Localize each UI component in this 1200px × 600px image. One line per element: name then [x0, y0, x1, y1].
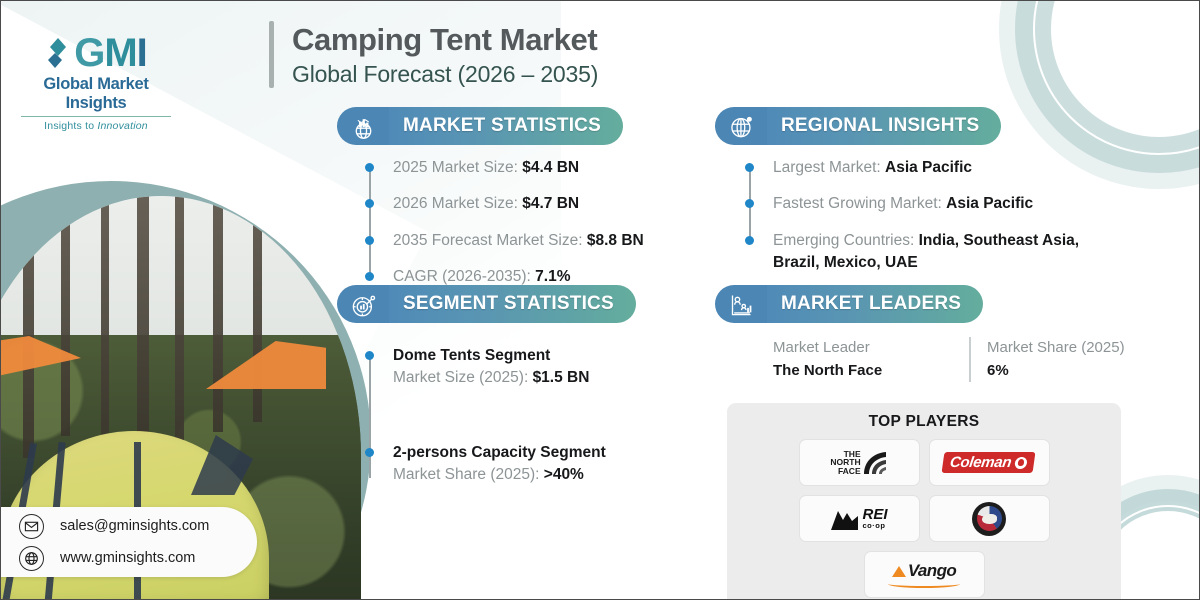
- logo-tagline: Insights to Innovation: [15, 120, 177, 132]
- seal-inner: [977, 506, 1002, 531]
- segment-statistics-list: Dome Tents Segment Market Size (2025): $…: [369, 345, 679, 487]
- section-label-market-statistics: MARKET STATISTICS: [387, 107, 623, 145]
- page-title-block: Camping Tent Market Global Forecast (202…: [269, 21, 598, 88]
- contact-website: www.gminsights.com: [60, 550, 195, 566]
- top-players-grid: THE NORTH FACE Coleman: [739, 439, 1109, 598]
- item-label: 2026 Market Size:: [393, 195, 522, 212]
- logo-letter-m: M: [104, 31, 136, 75]
- item-value: $4.4 BN: [522, 159, 579, 176]
- section-header-segment-statistics: SEGMENT STATISTICS: [337, 285, 636, 323]
- photo-tree-trunk: [175, 196, 184, 454]
- globe-pin-icon: [715, 107, 767, 145]
- bullet-dot: [365, 163, 374, 172]
- list-item: Largest Market: Asia Pacific: [749, 157, 1109, 179]
- tnf-line-3: FACE: [830, 467, 860, 476]
- section-header-market-statistics: MARKET STATISTICS: [337, 107, 623, 145]
- photo-tree-trunk: [23, 196, 34, 458]
- item-value: $1.5 BN: [533, 369, 590, 386]
- list-item: Dome Tents Segment Market Size (2025): $…: [369, 345, 679, 390]
- top-players-panel: TOP PLAYERS THE NORTH FACE: [727, 403, 1121, 600]
- photo-tree-trunk: [137, 196, 149, 444]
- coleman-lantern-icon: [1015, 457, 1029, 469]
- item-lead: 2-persons Capacity Segment: [393, 442, 679, 464]
- market-statistics-list: 2025 Market Size: $4.4 BN 2026 Market Si…: [369, 157, 679, 289]
- infographic-canvas: GMI Global Market Insights Insights to I…: [0, 0, 1200, 600]
- section-header-regional-insights: REGIONAL INSIGHTS: [715, 107, 1001, 145]
- vango-wordmark: Vango: [908, 561, 956, 581]
- list-item: 2-persons Capacity Segment Market Share …: [369, 442, 679, 487]
- leaderboard-icon: [715, 285, 767, 323]
- logo-letter-i: I: [137, 31, 147, 75]
- coleman-logo[interactable]: Coleman: [929, 439, 1050, 486]
- bullet-dot: [365, 199, 374, 208]
- globe-icon: [19, 546, 44, 571]
- item-label: 2035 Forecast Market Size:: [393, 232, 587, 249]
- logo-tagline-plain: Insights to: [44, 120, 97, 132]
- item-value: >40%: [544, 466, 584, 483]
- rei-mountain-icon: [830, 506, 860, 532]
- photo-tree-trunk: [213, 196, 223, 432]
- bullet-dot: [745, 236, 754, 245]
- vango-logo[interactable]: Vango: [864, 551, 985, 598]
- photo-tree-trunk: [101, 196, 109, 451]
- bullet-dot: [745, 163, 754, 172]
- item-lead: Dome Tents Segment: [393, 345, 679, 367]
- list-item: 2026 Market Size: $4.7 BN: [369, 193, 679, 215]
- contact-email-row[interactable]: sales@gminsights.com: [19, 514, 257, 539]
- list-item: Fastest Growing Market: Asia Pacific: [749, 193, 1109, 215]
- logo-gmi-text: GMI: [74, 33, 147, 73]
- rei-coop-text: co·op: [862, 522, 887, 529]
- item-value: Asia Pacific: [885, 159, 972, 176]
- list-item: 2035 Forecast Market Size: $8.8 BN: [369, 230, 679, 252]
- contact-website-row[interactable]: www.gminsights.com: [19, 546, 257, 571]
- vango-triangle-icon: [892, 566, 906, 577]
- item-label: Fastest Growing Market:: [773, 195, 946, 212]
- list-track: [369, 165, 371, 280]
- item-label: Market Size (2025):: [393, 369, 533, 386]
- bullet-dot: [745, 199, 754, 208]
- vango-swoosh-icon: [888, 580, 960, 588]
- market-leader-value: The North Face: [773, 360, 951, 383]
- top-players-heading: TOP PLAYERS: [739, 413, 1109, 431]
- market-leader-label: Market Leader: [773, 337, 951, 360]
- bullet-dot: [365, 351, 374, 360]
- page-subtitle: Global Forecast (2026 – 2035): [292, 61, 598, 88]
- big-agnes-seal-logo[interactable]: [929, 495, 1050, 542]
- envelope-icon: [19, 514, 44, 539]
- bullet-dot: [365, 448, 374, 457]
- the-north-face-logo[interactable]: THE NORTH FACE: [799, 439, 920, 486]
- logo-tagline-italic: Innovation: [97, 120, 147, 132]
- rei-co-op-logo[interactable]: REI co·op: [799, 495, 920, 542]
- list-item: Emerging Countries: India, Southeast Asi…: [749, 230, 1109, 275]
- item-value: 7.1%: [535, 268, 570, 285]
- contact-panel: sales@gminsights.com www.gminsights.com: [0, 507, 257, 577]
- logo-company-name: Global Market Insights: [15, 75, 177, 113]
- item-label: Market Share (2025):: [393, 466, 544, 483]
- item-value: $4.7 BN: [522, 195, 579, 212]
- section-label-market-leaders: MARKET LEADERS: [765, 285, 983, 323]
- market-share-column: Market Share (2025) 6%: [969, 337, 1125, 382]
- contact-email: sales@gminsights.com: [60, 518, 209, 534]
- tnf-arc-icon: [862, 450, 888, 476]
- coleman-wordmark: Coleman: [949, 454, 1013, 471]
- rei-wordmark: REI: [862, 508, 887, 522]
- section-label-segment-statistics: SEGMENT STATISTICS: [387, 285, 636, 323]
- gmi-logo[interactable]: GMI Global Market Insights Insights to I…: [15, 33, 177, 132]
- page-title: Camping Tent Market: [292, 21, 598, 59]
- logo-mark: GMI: [15, 33, 177, 73]
- circular-seal-icon: [972, 502, 1006, 536]
- diamond-icon: [45, 36, 71, 70]
- globe-chart-icon: [337, 107, 389, 145]
- market-leaders-detail: Market Leader The North Face Market Shar…: [773, 337, 1125, 382]
- item-value: Asia Pacific: [946, 195, 1033, 212]
- bullet-dot: [365, 272, 374, 281]
- section-header-market-leaders: MARKET LEADERS: [715, 285, 983, 323]
- market-share-label: Market Share (2025): [987, 337, 1125, 360]
- market-leader-column: Market Leader The North Face: [773, 337, 969, 382]
- market-share-value: 6%: [987, 360, 1125, 383]
- title-accent-bar: [269, 21, 274, 88]
- item-label: Emerging Countries:: [773, 232, 919, 249]
- item-label: Largest Market:: [773, 159, 885, 176]
- bullet-dot: [365, 236, 374, 245]
- regional-insights-list: Largest Market: Asia Pacific Fastest Gro…: [749, 157, 1109, 275]
- list-item: 2025 Market Size: $4.4 BN: [369, 157, 679, 179]
- logo-divider: [21, 116, 171, 117]
- item-value: $8.8 BN: [587, 232, 644, 249]
- item-label: 2025 Market Size:: [393, 159, 522, 176]
- logo-letter-g: G: [74, 31, 104, 75]
- item-label: CAGR (2026-2035):: [393, 268, 535, 285]
- photo-tree-trunk: [61, 196, 70, 436]
- segment-target-icon: [337, 285, 389, 323]
- section-label-regional-insights: REGIONAL INSIGHTS: [765, 107, 1001, 145]
